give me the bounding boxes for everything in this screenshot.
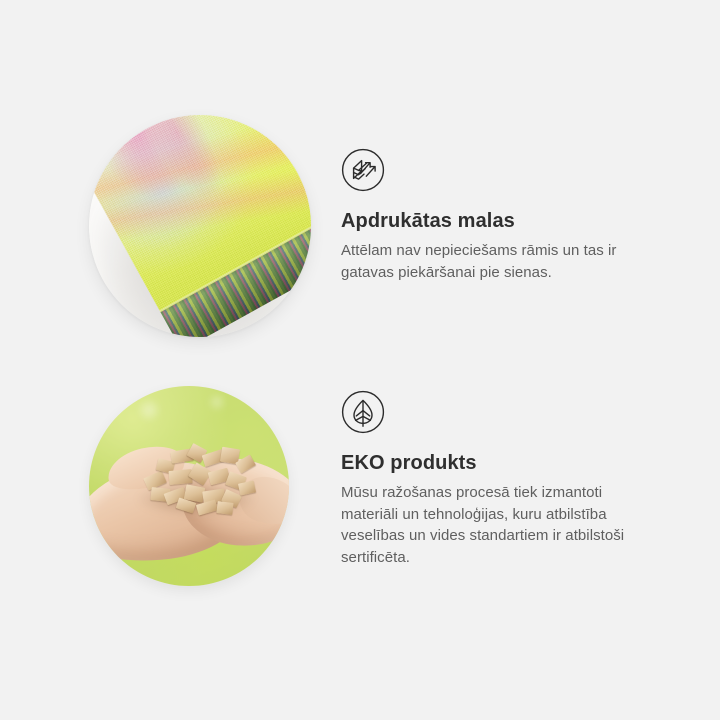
wrapped-canvas-edge-icon [341, 148, 385, 192]
feature-title: Apdrukātas malas [341, 208, 687, 234]
feature-info-page: Apdrukātas malas Attēlam nav nepieciešam… [0, 0, 720, 720]
feature-title: EKO produkts [341, 450, 687, 476]
hands-holding-wood-chips-photo [89, 386, 289, 586]
feature-description: Attēlam nav nepieciešams rāmis un tas ir… [341, 240, 687, 283]
feature-text-printed-edges: Apdrukātas malas Attēlam nav nepieciešam… [341, 148, 687, 283]
feature-text-eko-product: EKO produkts Mūsu ražošanas procesā tiek… [341, 390, 687, 568]
printed-canvas-corner-photo [89, 115, 311, 337]
feature-description: Mūsu ražošanas procesā tiek izmantoti ma… [341, 482, 687, 568]
wood-chips-pile [141, 444, 259, 516]
leaf-icon [341, 390, 385, 434]
